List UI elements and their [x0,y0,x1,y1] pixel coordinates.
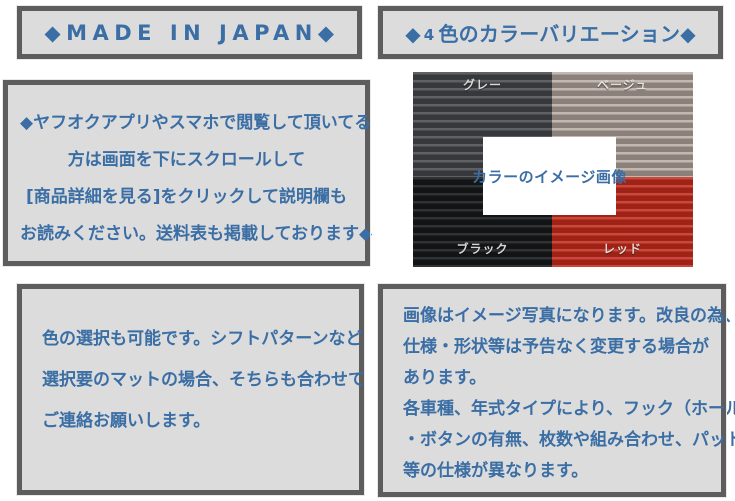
scroll-notice-line-2: 方は画面を下にスクロールして [20,142,353,179]
color-variation-label: ◆4色のカラーバリエーション◆ [405,18,696,47]
made-in-japan-label: ◆MADE IN JAPAN◆ [39,21,339,45]
spec-notice-line-2: 仕様・形状等は予告なく変更する場合が [395,332,709,363]
color-choice-line-2: 選択要のマットの場合、そちらも合わせて [34,360,347,401]
spec-notice-line-3: あります。 [395,363,709,394]
color-choice-panel: 色の選択も可能です。シフトパターンなど 選択要のマットの場合、そちらも合わせて … [17,284,364,495]
swatch-beige-label: ベージュ [552,76,693,93]
color-variation-photo: グレー ベージュ ブラック レッド カラーのイメージ画像 [413,72,693,267]
swatch-gray-label: グレー [413,76,552,93]
scroll-notice-panel: ◆ヤフオクアプリやスマホで閲覧して頂いてる 方は画面を下にスクロールして [商品… [3,80,370,266]
swatch-red-label: レッド [552,240,693,257]
diamond-icon: ◆ [405,22,421,46]
swatch-black-label: ブラック [413,240,552,257]
spec-notice-line-4: 各車種、年式タイプにより、フック（ホール） [395,394,709,425]
spec-notice-line-5: ・ボタンの有無、枚数や組み合わせ、パット [395,425,709,456]
scroll-notice-line-1: ◆ヤフオクアプリやスマホで閲覧して頂いてる [20,105,353,142]
color-choice-line-1: 色の選択も可能です。シフトパターンなど [34,319,347,360]
made-in-japan-banner: ◆MADE IN JAPAN◆ [17,6,362,59]
scroll-notice-line-3: [商品詳細を見る]をクリックして説明欄も [20,179,353,216]
color-variation-text: 色のカラーバリエーション◆ [438,22,695,46]
photo-caption-text: カラーのイメージ画像 [472,166,627,187]
spec-notice-line-1: 画像はイメージ写真になります。改良の為、 [395,301,709,332]
color-choice-line-3: ご連絡お願いします。 [34,401,347,442]
color-variation-banner: ◆4色のカラーバリエーション◆ [378,6,723,59]
photo-caption-overlay: カラーのイメージ画像 [483,137,616,215]
spec-notice-panel: 画像はイメージ写真になります。改良の為、 仕様・形状等は予告なく変更する場合が … [378,284,726,497]
color-count: 4 [421,26,439,44]
scroll-notice-line-4: お読みください。送料表も掲載しております◆ [20,216,353,253]
spec-notice-line-6: 等の仕様が異なります。 [395,456,709,487]
